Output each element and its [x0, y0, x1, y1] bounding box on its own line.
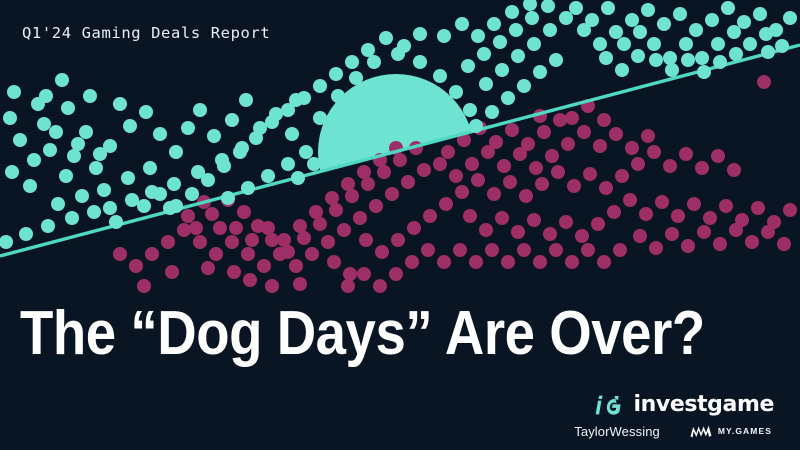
- scatter-point: [245, 233, 259, 247]
- scatter-point: [265, 115, 279, 129]
- scatter-point: [227, 265, 241, 279]
- scatter-point: [575, 229, 589, 243]
- scatter-point: [113, 247, 127, 261]
- scatter-point: [601, 1, 615, 15]
- scatter-point: [361, 43, 375, 57]
- scatter-point: [393, 153, 407, 167]
- scatter-point: [631, 49, 645, 63]
- scatter-point: [417, 163, 431, 177]
- scatter-point: [679, 147, 693, 161]
- scatter-point: [121, 171, 135, 185]
- scatter-point: [189, 221, 203, 235]
- scatter-point: [535, 177, 549, 191]
- scatter-point: [777, 237, 791, 251]
- scatter-point: [87, 205, 101, 219]
- my-games-zigzag-icon: [690, 425, 712, 438]
- scatter-point: [41, 219, 55, 233]
- ig-monogram-icon: [590, 394, 622, 416]
- scatter-point: [357, 165, 371, 179]
- scatter-point: [597, 255, 611, 269]
- scatter-point: [541, 0, 555, 13]
- scatter-point: [597, 113, 611, 127]
- scatter-point: [293, 219, 307, 233]
- scatter-point: [775, 39, 789, 53]
- scatter-point: [757, 75, 771, 89]
- scatter-point: [193, 235, 207, 249]
- scatter-point: [631, 157, 645, 171]
- scatter-point: [93, 147, 107, 161]
- scatter-point: [599, 51, 613, 65]
- scatter-point: [43, 143, 57, 157]
- scatter-point: [65, 211, 79, 225]
- scatter-point: [609, 127, 623, 141]
- scatter-point: [177, 223, 191, 237]
- scatter-point: [167, 177, 181, 191]
- scatter-point: [181, 209, 195, 223]
- scatter-point: [391, 233, 405, 247]
- scatter-point: [329, 67, 343, 81]
- scatter-point: [193, 103, 207, 117]
- scatter-point: [0, 235, 13, 249]
- scatter-point: [89, 161, 103, 175]
- scatter-point: [307, 157, 321, 171]
- scatter-point: [485, 243, 499, 257]
- scatter-point: [281, 103, 295, 117]
- scatter-point: [79, 125, 93, 139]
- scatter-point: [613, 243, 627, 257]
- scatter-point: [39, 89, 53, 103]
- scatter-point: [313, 217, 327, 231]
- scatter-point: [405, 255, 419, 269]
- scatter-point: [559, 11, 573, 25]
- scatter-point: [529, 161, 543, 175]
- scatter-point: [565, 255, 579, 269]
- scatter-point: [545, 149, 559, 163]
- scatter-point: [59, 169, 73, 183]
- scatter-point: [495, 63, 509, 77]
- scatter-point: [313, 111, 327, 125]
- scatter-point: [71, 137, 85, 151]
- scatter-point: [745, 235, 759, 249]
- scatter-point: [655, 195, 669, 209]
- scatter-point: [525, 11, 539, 25]
- scatter-point: [261, 169, 275, 183]
- scatter-point: [719, 199, 733, 213]
- scatter-point: [581, 243, 595, 257]
- scatter-point: [113, 97, 127, 111]
- scatter-point: [305, 247, 319, 261]
- partner-logo-row: TaylorWessing MY.GAMES: [574, 425, 774, 438]
- scatter-point: [615, 169, 629, 183]
- scatter-point: [213, 221, 227, 235]
- scatter-point: [549, 243, 563, 257]
- scatter-point: [5, 165, 19, 179]
- scatter-point: [123, 119, 137, 133]
- scatter-point: [331, 89, 345, 103]
- scatter-point: [697, 225, 711, 239]
- scatter-point: [509, 23, 523, 37]
- scatter-point: [405, 93, 419, 107]
- scatter-point: [327, 255, 341, 269]
- scatter-point: [465, 157, 479, 171]
- scatter-point: [309, 205, 323, 219]
- scatter-point: [625, 141, 639, 155]
- scatter-point: [369, 199, 383, 213]
- scatter-point: [313, 79, 327, 93]
- scatter-point: [349, 71, 363, 85]
- scatter-point: [375, 245, 389, 259]
- scatter-point: [265, 279, 279, 293]
- scatter-point: [761, 225, 775, 239]
- scatter-point: [471, 173, 485, 187]
- scatter-point: [713, 55, 727, 69]
- scatter-point: [553, 113, 567, 127]
- scatter-point: [527, 37, 541, 51]
- scatter-point: [3, 111, 17, 125]
- scatter-point: [139, 105, 153, 119]
- scatter-point: [437, 255, 451, 269]
- scatter-point: [207, 129, 221, 143]
- scatter-point: [607, 205, 621, 219]
- scatter-point: [359, 233, 373, 247]
- scatter-point: [711, 149, 725, 163]
- scatter-point: [361, 177, 375, 191]
- scatter-point: [641, 129, 655, 143]
- scatter-point: [649, 53, 663, 67]
- scatter-point: [61, 101, 75, 115]
- scatter-point: [437, 29, 451, 43]
- scatter-point: [449, 85, 463, 99]
- scatter-point: [421, 107, 435, 121]
- scatter-point: [761, 45, 775, 59]
- scatter-point: [161, 235, 175, 249]
- scatter-point: [413, 55, 427, 69]
- scatter-point: [181, 121, 195, 135]
- scatter-point: [697, 65, 711, 79]
- scatter-point: [519, 189, 533, 203]
- scatter-point: [401, 175, 415, 189]
- scatter-point: [617, 37, 631, 51]
- scatter-point: [433, 69, 447, 83]
- scatter-point: [657, 17, 671, 31]
- scatter-point: [455, 17, 469, 31]
- scatter-point: [439, 197, 453, 211]
- scatter-point: [527, 213, 541, 227]
- scatter-point: [67, 149, 81, 163]
- scatter-point: [503, 175, 517, 189]
- investgame-logo[interactable]: investgame: [590, 394, 774, 416]
- scatter-point: [517, 79, 531, 93]
- logo-lockup-group: investgame TaylorWessing MY.GAMES: [574, 394, 774, 438]
- scatter-point: [695, 161, 709, 175]
- scatter-point: [479, 77, 493, 91]
- scatter-point: [205, 207, 219, 221]
- scatter-point: [329, 203, 343, 217]
- scatter-point: [753, 7, 767, 21]
- scatter-point: [511, 49, 525, 63]
- scatter-point: [713, 237, 727, 251]
- scatter-point: [721, 1, 735, 15]
- scatter-point: [337, 223, 351, 237]
- scatter-point: [273, 247, 287, 261]
- scatter-point: [129, 259, 143, 273]
- scatter-point: [479, 223, 493, 237]
- scatter-point: [321, 235, 335, 249]
- scatter-point: [143, 161, 157, 175]
- scatter-point: [423, 209, 437, 223]
- scatter-point: [663, 51, 677, 65]
- scatter-point: [153, 127, 167, 141]
- scatter-point: [153, 187, 167, 201]
- scatter-point: [549, 53, 563, 67]
- scatter-point: [201, 261, 215, 275]
- scatter-point: [341, 177, 355, 191]
- scatter-point: [609, 25, 623, 39]
- scatter-point: [511, 225, 525, 239]
- scatter-point: [83, 89, 97, 103]
- scatter-point: [487, 17, 501, 31]
- investgame-wordmark: investgame: [633, 394, 774, 416]
- scatter-point: [51, 197, 65, 211]
- scatter-point: [561, 137, 575, 151]
- scatter-point: [537, 125, 551, 139]
- scatter-point: [497, 159, 511, 173]
- scatter-point: [13, 133, 27, 147]
- scatter-point: [703, 211, 717, 225]
- scatter-point: [433, 157, 447, 171]
- scatter-point: [687, 197, 701, 211]
- scatter-point: [551, 165, 565, 179]
- scatter-point: [727, 163, 741, 177]
- scatter-point: [377, 165, 391, 179]
- scatter-point: [737, 15, 751, 29]
- scatter-point: [567, 179, 581, 193]
- scatter-point: [463, 209, 477, 223]
- scatter-point: [639, 207, 653, 221]
- scatter-point: [783, 203, 797, 217]
- scatter-point: [543, 227, 557, 241]
- scatter-point: [221, 191, 235, 205]
- scatter-point: [345, 189, 359, 203]
- scatter-point: [679, 37, 693, 51]
- scatter-point: [299, 145, 313, 159]
- scatter-point: [357, 267, 371, 281]
- scatter-point: [513, 147, 527, 161]
- scatter-point: [695, 51, 709, 65]
- scatter-point: [49, 125, 63, 139]
- scatter-point: [751, 201, 765, 215]
- scatter-point: [663, 159, 677, 173]
- scatter-point: [265, 233, 279, 247]
- scatter-point: [355, 113, 369, 127]
- scatter-point: [323, 141, 337, 155]
- scatter-point: [341, 279, 355, 293]
- scatter-point: [505, 123, 519, 137]
- scatter-point: [201, 173, 215, 187]
- scatter-point: [241, 181, 255, 195]
- scatter-point: [505, 5, 519, 19]
- scatter-point: [665, 63, 679, 77]
- scatter-point: [501, 255, 515, 269]
- scatter-point: [495, 211, 509, 225]
- scatter-point: [569, 1, 583, 15]
- scatter-point: [285, 127, 299, 141]
- scatter-point: [169, 145, 183, 159]
- scatter-point: [281, 157, 295, 171]
- scatter-point: [145, 247, 159, 261]
- scatter-point: [449, 169, 463, 183]
- scatter-point: [689, 23, 703, 37]
- scatter-point: [493, 35, 507, 49]
- scatter-point: [237, 205, 251, 219]
- scatter-point: [471, 29, 485, 43]
- scatter-point: [209, 247, 223, 261]
- scatter-point: [277, 233, 291, 247]
- scatter-point: [461, 59, 475, 73]
- scatter-point: [19, 227, 33, 241]
- scatter-point: [217, 159, 231, 173]
- scatter-plot-svg: [0, 0, 800, 300]
- scatter-point: [55, 73, 69, 87]
- report-cover-slide: Q1'24 Gaming Deals Report The “Dog Days”…: [0, 0, 800, 450]
- scatter-point: [27, 153, 41, 167]
- scatter-point: [339, 127, 353, 141]
- scatter-point: [453, 243, 467, 257]
- scatter-point: [599, 181, 613, 195]
- report-eyebrow-label: Q1'24 Gaming Deals Report: [22, 24, 270, 42]
- scatter-point: [249, 131, 263, 145]
- scatter-point: [343, 267, 357, 281]
- scatter-point: [225, 235, 239, 249]
- scatter-point: [469, 255, 483, 269]
- scatter-point: [729, 223, 743, 237]
- scatter-point: [421, 243, 435, 257]
- scatter-point: [441, 145, 455, 159]
- scatter-point: [229, 221, 243, 235]
- scatter-point: [649, 241, 663, 255]
- scatter-point: [543, 23, 557, 37]
- scatter-point: [633, 229, 647, 243]
- scatter-point: [583, 167, 597, 181]
- scatter-point: [665, 227, 679, 241]
- scatter-point: [353, 211, 367, 225]
- scatter-point: [413, 27, 427, 41]
- scatter-point: [257, 259, 271, 273]
- scatter-point: [647, 145, 661, 159]
- scatter-point: [243, 273, 257, 287]
- scatter-point: [165, 265, 179, 279]
- scatter-point: [711, 37, 725, 51]
- scatter-point: [481, 145, 495, 159]
- scatter-point: [565, 111, 579, 125]
- scatter-point: [681, 53, 695, 67]
- scatter-point: [593, 37, 607, 51]
- my-games-wordmark: MY.GAMES: [718, 427, 772, 436]
- scatter-point: [647, 37, 661, 51]
- scatter-point: [455, 185, 469, 199]
- scatter-point: [345, 55, 359, 69]
- page-title: The “Dog Days” Are Over?: [20, 303, 698, 365]
- scatter-point: [261, 221, 275, 235]
- scatter-point: [325, 191, 339, 205]
- scatter-point: [225, 113, 239, 127]
- scatter-point: [559, 215, 573, 229]
- scatter-point: [109, 215, 123, 229]
- scatter-point: [185, 187, 199, 201]
- my-games-logo[interactable]: MY.GAMES: [690, 425, 772, 438]
- scatter-point: [241, 247, 255, 261]
- scatter-point: [97, 183, 111, 197]
- taylorwessing-logo[interactable]: TaylorWessing: [574, 425, 660, 438]
- scatter-point: [727, 25, 741, 39]
- scatter-point: [593, 139, 607, 153]
- scatter-point: [783, 11, 797, 25]
- scatter-point: [291, 171, 305, 185]
- scatter-point: [7, 85, 21, 99]
- scatter-point: [437, 121, 451, 135]
- scatter-point: [623, 193, 637, 207]
- scatter-point: [743, 37, 757, 51]
- scatter-point: [297, 91, 311, 105]
- scatter-point: [523, 0, 537, 11]
- scatter-point: [397, 39, 411, 53]
- scatter-point: [293, 277, 307, 291]
- scatter-point: [477, 47, 491, 61]
- scatter-point: [673, 7, 687, 21]
- scatter-point: [103, 201, 117, 215]
- scatter-point: [485, 105, 499, 119]
- scatter-point: [615, 63, 629, 77]
- scatter-point: [385, 187, 399, 201]
- scatter-point: [469, 119, 483, 133]
- scatter-point: [633, 25, 647, 39]
- scatter-point: [367, 55, 381, 69]
- scatter-point: [671, 209, 685, 223]
- scatter-point: [729, 47, 743, 61]
- scatter-point: [169, 199, 183, 213]
- scatter-point: [373, 279, 387, 293]
- scatter-point: [681, 239, 695, 253]
- scatter-point: [641, 3, 655, 17]
- deals-scatter-graphic: [0, 0, 800, 300]
- scatter-point: [137, 199, 151, 213]
- scatter-point: [577, 125, 591, 139]
- scatter-point: [533, 255, 547, 269]
- scatter-point: [37, 117, 51, 131]
- scatter-point: [625, 13, 639, 27]
- scatter-point: [23, 179, 37, 193]
- scatter-point: [517, 243, 531, 257]
- scatter-point: [289, 259, 303, 273]
- scatter-point: [75, 189, 89, 203]
- scatter-point: [407, 221, 421, 235]
- scatter-point: [239, 93, 253, 107]
- scatter-point: [379, 31, 393, 45]
- scatter-point: [233, 145, 247, 159]
- scatter-point: [501, 91, 515, 105]
- scatter-point: [705, 13, 719, 27]
- scatter-point: [487, 187, 501, 201]
- scatter-point: [297, 231, 311, 245]
- scatter-point: [759, 27, 773, 41]
- scatter-point: [585, 13, 599, 27]
- scatter-point: [137, 279, 151, 293]
- scatter-point: [533, 65, 547, 79]
- scatter-point: [125, 193, 139, 207]
- scatter-point: [389, 267, 403, 281]
- scatter-point: [591, 217, 605, 231]
- scatter-point: [463, 103, 477, 117]
